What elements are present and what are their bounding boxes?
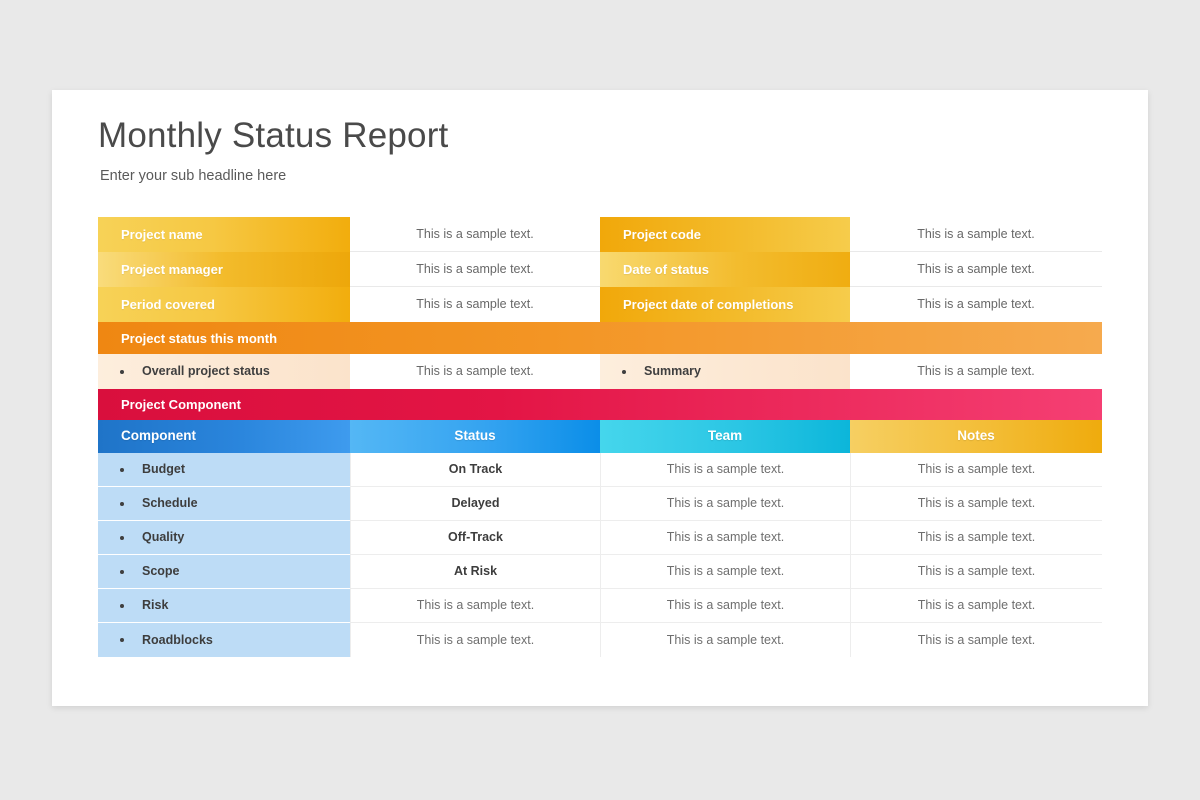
status-summary-row: Overall project status This is a sample … [98,354,1102,389]
component-name-text: Scope [142,564,180,579]
bullet-icon [622,370,626,374]
info-label-period-covered: Period covered [98,287,350,322]
component-header-row: Component Status Team Notes [98,420,1102,453]
component-name-cell: Scope [98,555,350,589]
bullet-icon [120,370,124,374]
component-name-cell: Schedule [98,487,350,521]
component-notes-cell[interactable]: This is a sample text. [850,521,1102,555]
page-subtitle: Enter your sub headline here [100,168,448,184]
slide-header: Monthly Status Report Enter your sub hea… [98,117,448,184]
bullet-icon [120,468,124,472]
component-status-cell[interactable]: Off-Track [350,521,600,555]
page-title: Monthly Status Report [98,117,448,156]
table-row: Budget On Track This is a sample text. T… [98,453,1102,487]
component-name-text: Roadblocks [142,633,213,648]
component-name-cell: Budget [98,453,350,487]
component-team-cell[interactable]: This is a sample text. [600,623,850,657]
component-notes-cell[interactable]: This is a sample text. [850,589,1102,623]
status-label-text: Summary [644,364,701,379]
table-row: Quality Off-Track This is a sample text.… [98,521,1102,555]
info-row: Project manager This is a sample text. D… [98,252,1102,287]
table-row: Scope At Risk This is a sample text. Thi… [98,555,1102,589]
info-value-period-covered[interactable]: This is a sample text. [350,287,600,322]
component-name-text: Quality [142,530,184,545]
component-team-cell[interactable]: This is a sample text. [600,521,850,555]
info-value-project-date-of-completions[interactable]: This is a sample text. [850,287,1102,322]
info-label-project-code: Project code [600,217,850,252]
status-report-table: Project name This is a sample text. Proj… [98,217,1102,657]
component-name-text: Budget [142,462,185,477]
component-name-text: Risk [142,598,168,613]
status-value-summary[interactable]: This is a sample text. [850,354,1102,389]
table-row: Risk This is a sample text. This is a sa… [98,589,1102,623]
component-notes-cell[interactable]: This is a sample text. [850,623,1102,657]
bullet-icon [120,502,124,506]
component-team-cell[interactable]: This is a sample text. [600,589,850,623]
component-status-cell[interactable]: Delayed [350,487,600,521]
component-team-cell[interactable]: This is a sample text. [600,555,850,589]
info-label-project-manager: Project manager [98,252,350,287]
component-notes-cell[interactable]: This is a sample text. [850,487,1102,521]
status-label-overall-project-status: Overall project status [98,354,350,389]
component-team-cell[interactable]: This is a sample text. [600,453,850,487]
component-status-cell[interactable]: This is a sample text. [350,623,600,657]
info-value-project-name[interactable]: This is a sample text. [350,217,600,252]
component-name-cell: Risk [98,589,350,623]
component-name-cell: Roadblocks [98,623,350,657]
info-row: Project name This is a sample text. Proj… [98,217,1102,252]
component-name-cell: Quality [98,521,350,555]
slide-canvas: Monthly Status Report Enter your sub hea… [52,90,1148,706]
table-row: Schedule Delayed This is a sample text. … [98,487,1102,521]
project-status-banner: Project status this month [98,322,1102,354]
component-status-cell[interactable]: This is a sample text. [350,589,600,623]
info-value-project-code[interactable]: This is a sample text. [850,217,1102,252]
info-value-date-of-status[interactable]: This is a sample text. [850,252,1102,287]
status-value-overall-project-status[interactable]: This is a sample text. [350,354,600,389]
status-label-text: Overall project status [142,364,270,379]
project-component-banner: Project Component [98,389,1102,420]
component-notes-cell[interactable]: This is a sample text. [850,555,1102,589]
component-status-cell[interactable]: On Track [350,453,600,487]
component-name-text: Schedule [142,496,198,511]
column-header-component: Component [98,420,350,453]
info-label-date-of-status: Date of status [600,252,850,287]
component-status-cell[interactable]: At Risk [350,555,600,589]
bullet-icon [120,536,124,540]
bullet-icon [120,570,124,574]
component-notes-cell[interactable]: This is a sample text. [850,453,1102,487]
component-team-cell[interactable]: This is a sample text. [600,487,850,521]
column-header-notes: Notes [850,420,1102,453]
table-row: Roadblocks This is a sample text. This i… [98,623,1102,657]
status-label-summary: Summary [600,354,850,389]
bullet-icon [120,604,124,608]
info-label-project-name: Project name [98,217,350,252]
column-header-status: Status [350,420,600,453]
info-value-project-manager[interactable]: This is a sample text. [350,252,600,287]
bullet-icon [120,638,124,642]
info-label-project-date-of-completions: Project date of completions [600,287,850,322]
info-row: Period covered This is a sample text. Pr… [98,287,1102,322]
column-header-team: Team [600,420,850,453]
